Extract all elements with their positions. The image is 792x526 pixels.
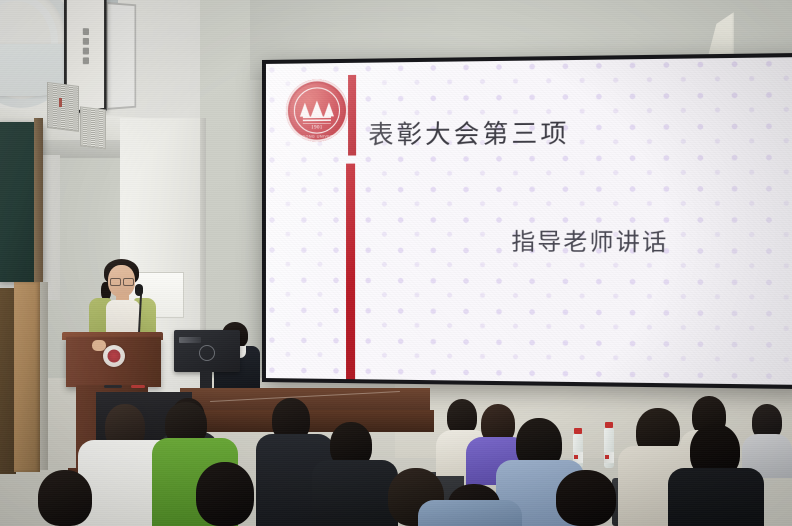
lecture-hall-photo: 1901 SHANDONG UNIVERSITY 表彰大会第三项 指导老师讲话 xyxy=(0,0,792,526)
monitor-label xyxy=(179,337,201,343)
hvac-vent xyxy=(47,82,79,132)
chalkboard-frame xyxy=(34,118,43,288)
wooden-door-panel xyxy=(14,282,40,472)
dell-logo-icon xyxy=(199,345,215,361)
projection-screen-frame: 1901 SHANDONG UNIVERSITY 表彰大会第三项 指导老师讲话 xyxy=(262,53,792,389)
dell-monitor xyxy=(174,330,240,372)
pen-red xyxy=(131,385,145,388)
projection-screen: 1901 SHANDONG UNIVERSITY 表彰大会第三项 指导老师讲话 xyxy=(266,57,792,385)
bottle-label xyxy=(604,452,614,463)
vent-indicator xyxy=(59,98,62,107)
audience-head xyxy=(556,470,616,526)
slide-subtitle: 指导老师讲话 xyxy=(511,222,668,257)
seal-wave-lines xyxy=(303,117,331,124)
audience-body xyxy=(668,468,764,526)
audience-head xyxy=(196,462,254,526)
podium-crest-inner xyxy=(108,350,121,363)
door-gap xyxy=(40,282,48,470)
slide-title: 表彰大会第三项 xyxy=(368,113,569,151)
audience-body xyxy=(312,460,398,526)
seal-mountain-icon xyxy=(301,100,333,116)
bottle-cap xyxy=(574,428,582,434)
university-seal-logo-icon: 1901 SHANDONG UNIVERSITY xyxy=(286,79,348,142)
glasses-icon xyxy=(110,278,133,284)
accent-stripe-main xyxy=(346,164,355,384)
hvac-vent xyxy=(80,106,106,149)
seal-arc-text: SHANDONG UNIVERSITY xyxy=(290,134,343,138)
pen-dark xyxy=(104,385,122,388)
framed-panel-secondary xyxy=(106,2,136,110)
seal-year: 1901 xyxy=(311,126,323,131)
microphone-icon xyxy=(135,284,143,296)
accent-stripe-top xyxy=(348,75,356,156)
podium-crest-plaque xyxy=(103,345,125,367)
calligraphy-glyphs xyxy=(83,28,89,64)
bottle-cap xyxy=(605,422,613,428)
audience-head xyxy=(38,470,92,526)
water-bottle xyxy=(604,428,614,468)
audience-body xyxy=(418,500,522,526)
